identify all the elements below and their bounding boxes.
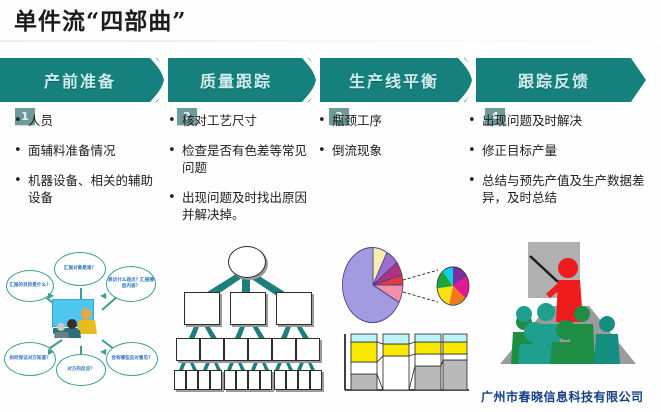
- list-item: •瓶颈工序: [318, 112, 458, 129]
- list-item: •出现问题及时找出原因并解决掉。: [168, 189, 316, 223]
- stacked-bar-chart: [337, 328, 477, 400]
- trainer-audience-graphic: [486, 240, 651, 388]
- tree-node: [174, 370, 186, 390]
- tree-node: [236, 370, 248, 390]
- bullet-column-3: •瓶颈工序 •倒流现象: [318, 112, 458, 172]
- tree-node: [272, 338, 296, 361]
- tree-node: [200, 338, 224, 361]
- list-item: •面辅料准备情况: [14, 142, 156, 159]
- list-item-text: 面辅料准备情况: [28, 142, 156, 159]
- mindmap-bubble-text: 会有哪些反对意见？: [107, 356, 157, 362]
- step-chevron-1[interactable]: 产前准备: [0, 58, 172, 102]
- mindmap-bubble-text: 对方的反应？: [57, 367, 105, 373]
- list-item: •修正目标产量: [468, 142, 653, 159]
- pie-chart-group: [335, 240, 475, 335]
- list-item-text: 修正目标产量: [482, 142, 653, 159]
- bullet-dot: •: [168, 142, 177, 159]
- mindmap-bubble-text: 汇报的目的是什么？: [7, 283, 53, 289]
- tree-node: [224, 370, 236, 390]
- step-label-1: 产前准备: [44, 68, 116, 92]
- mindmap-bubble-6: 会有哪些反对意见？: [106, 342, 158, 376]
- page-title: 单件流“四部曲”: [14, 2, 186, 36]
- tree-node: [260, 370, 272, 390]
- illustration-pie-and-stacked-bar: [335, 240, 475, 400]
- list-item: •检查是否有色差等常见问题: [168, 142, 316, 176]
- mindmap-arrow-right: ◀: [100, 292, 106, 300]
- bullet-dot: •: [14, 112, 23, 129]
- tree-node: [298, 370, 310, 390]
- bullet-dot: •: [168, 112, 177, 129]
- mindmap-bubble-text: 表达什么观点？汇报哪些内容？: [107, 278, 155, 290]
- tree-node: [276, 292, 312, 325]
- step-label-2: 质量跟踪: [200, 68, 272, 92]
- bullet-dot: •: [168, 189, 177, 206]
- list-item: •出现问题及时解决: [468, 112, 653, 129]
- tree-node: [198, 370, 210, 390]
- mindmap-bubble-text: 汇报对象是谁？: [55, 266, 105, 272]
- mindmap-bubble-text: 如何保证对方知道？: [5, 356, 55, 362]
- company-footer: 广州市春晓信息科技有限公司: [481, 388, 644, 405]
- tree-node: [224, 338, 248, 361]
- list-item-text: 出现问题及时找出原因并解决掉。: [182, 189, 316, 223]
- list-item-text: 人员: [28, 112, 156, 129]
- bullet-dot: •: [14, 142, 23, 159]
- bullet-column-2: •核对工艺尺寸 •检查是否有色差等常见问题 •出现问题及时找出原因并解决掉。: [168, 112, 316, 236]
- slide-canvas: 单件流“四部曲” 产前准备 1 质量跟踪 2 生产线平衡 3 跟踪反馈: [0, 0, 661, 412]
- tree-node: [230, 292, 266, 325]
- step-label-4: 跟踪反馈: [518, 68, 590, 92]
- step-chevron-3[interactable]: 生产线平衡: [320, 58, 480, 102]
- bullet-columns: •人员 •面辅料准备情况 •机器设备、相关的辅助设备 •核对工艺尺寸 •检查是否…: [0, 112, 661, 242]
- tree-node: [286, 370, 298, 390]
- list-item-text: 瓶颈工序: [332, 112, 458, 129]
- tree-node: [186, 370, 198, 390]
- tree-node: [296, 338, 320, 361]
- tree-node: [210, 370, 222, 390]
- list-item-text: 出现问题及时解决: [482, 112, 653, 129]
- mindmap-arrow-left-lower: ▶: [48, 348, 54, 356]
- bullet-column-4: •出现问题及时解决 •修正目标产量 •总结与预先产值及生产数据差异，及时总结: [468, 112, 653, 219]
- tree-node: [248, 370, 260, 390]
- bullet-dot: •: [468, 112, 477, 129]
- illustration-mind-map-meeting: 汇报的目的是什么？ 汇报对象是谁？ 表达什么观点？汇报哪些内容？ 如何保证对方知…: [2, 244, 160, 402]
- list-item: •总结与预先产值及生产数据差异，及时总结: [468, 172, 653, 206]
- bullet-column-1: •人员 •面辅料准备情况 •机器设备、相关的辅助设备: [14, 112, 156, 219]
- mindmap-bubble-3: 表达什么观点？汇报哪些内容？: [106, 266, 156, 302]
- bullet-dot: •: [14, 172, 23, 189]
- mindmap-arrow-left: ▶: [48, 292, 54, 300]
- tree-node: [274, 370, 286, 390]
- list-item-text: 机器设备、相关的辅助设备: [28, 172, 156, 206]
- step-label-3: 生产线平衡: [349, 68, 439, 92]
- tree-node: [248, 338, 272, 361]
- list-item: •倒流现象: [318, 142, 458, 159]
- list-item-text: 核对工艺尺寸: [182, 112, 316, 129]
- step-banner-row: 产前准备 1 质量跟踪 2 生产线平衡 3 跟踪反馈 4: [0, 58, 661, 102]
- bullet-dot: •: [318, 142, 327, 159]
- mindmap-bubble-1: 汇报的目的是什么？: [6, 270, 54, 302]
- list-item-text: 倒流现象: [332, 142, 458, 159]
- mindmap-bubble-5: 对方的反应？: [56, 354, 106, 386]
- mindmap-arrow-right-lower: ◀: [100, 348, 106, 356]
- illustration-trainer-audience: [486, 240, 651, 388]
- tree-node-root: [228, 246, 266, 278]
- step-chevron-4[interactable]: 跟踪反馈: [476, 58, 646, 102]
- list-item: •机器设备、相关的辅助设备: [14, 172, 156, 206]
- title-divider: [0, 40, 661, 42]
- tree-node: [176, 338, 200, 361]
- bullet-dot: •: [468, 172, 477, 189]
- list-item: •人员: [14, 112, 156, 129]
- tree-node: [184, 292, 220, 325]
- step-chevron-2[interactable]: 质量跟踪: [168, 58, 324, 102]
- mindmap-people: [50, 306, 110, 340]
- mindmap-bubble-2: 汇报对象是谁？: [54, 252, 106, 286]
- bullet-dot: •: [318, 112, 327, 129]
- list-item-text: 检查是否有色差等常见问题: [182, 142, 316, 176]
- tree-node: [310, 370, 322, 390]
- bullet-dot: •: [468, 142, 477, 159]
- list-item-text: 总结与预先产值及生产数据差异，及时总结: [482, 172, 653, 206]
- illustration-organization-tree: [170, 244, 322, 394]
- list-item: •核对工艺尺寸: [168, 112, 316, 129]
